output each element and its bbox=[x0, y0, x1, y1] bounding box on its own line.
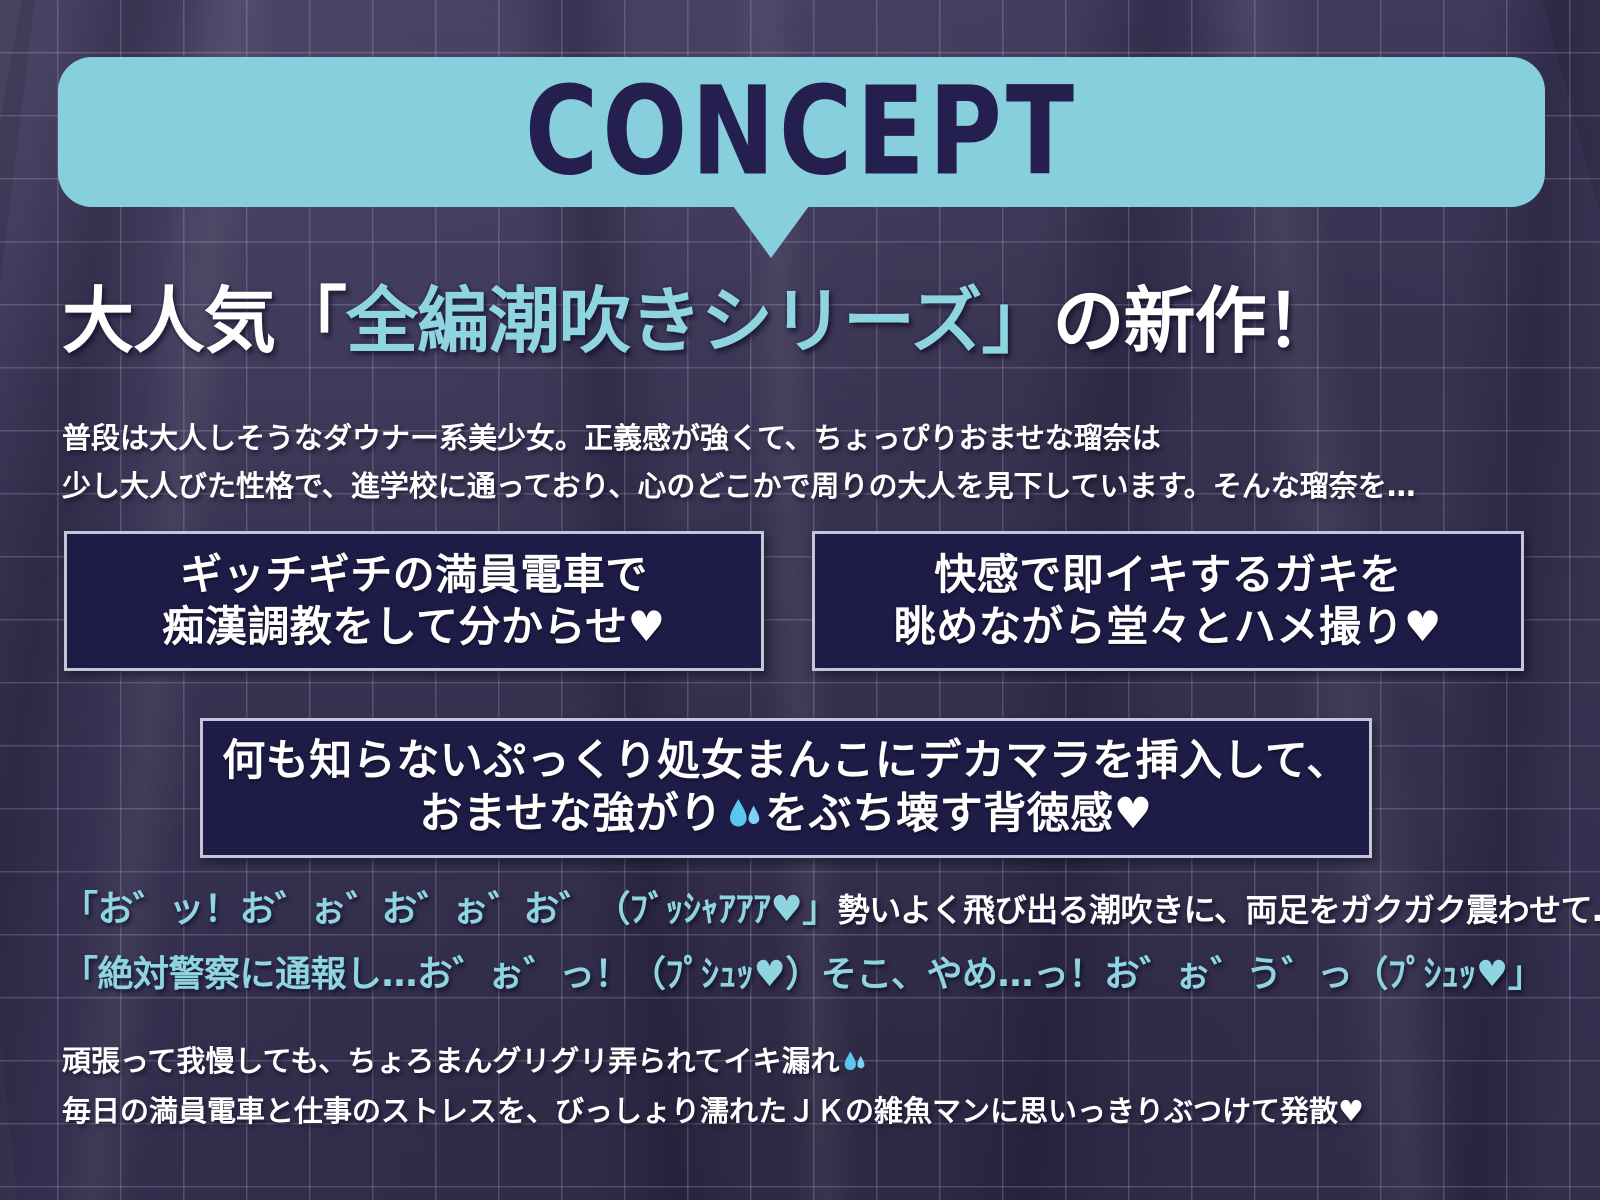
feature-box-line: 快感で即イキするガキを bbox=[934, 549, 1402, 601]
feature-box-line: 何も知らないぷっくり処女まんこにデカマラを挿入して、 bbox=[222, 735, 1350, 788]
feature-box-line: おませな強がりをぶち壊す背徳感♥ bbox=[419, 788, 1152, 841]
feature-box-line: ギッチギチの満員電車で bbox=[180, 549, 648, 601]
headline-part1: 大人気 bbox=[62, 279, 275, 363]
headline: 大人気「全編潮吹きシリーズ」の新作！ bbox=[62, 281, 1542, 362]
headline-bracket-open: 「 bbox=[275, 279, 346, 363]
concept-banner: CONCEPT 大人気「全編潮吹きシリーズ」の新作！ 普段は大人しそうなダウナー… bbox=[0, 0, 1600, 1200]
feature-box-left: ギッチギチの満員電車で 痴漢調教をして分からせ♥ bbox=[64, 531, 764, 671]
sweat-droplets-icon bbox=[840, 1041, 868, 1069]
outro-line: 頑張って我慢しても、ちょろまんグリグリ弄られてイキ漏れ bbox=[62, 1036, 1562, 1086]
sweat-droplets-icon bbox=[723, 794, 764, 835]
outro-line: 毎日の満員電車と仕事のストレスを、びっしょり濡れたＪＫの雑魚マンに思いっきりぶつ… bbox=[62, 1086, 1562, 1136]
headline-bracket-close: 」 bbox=[981, 279, 1052, 363]
bubble-body: CONCEPT bbox=[58, 57, 1545, 207]
feature-box-line: 眺めながら堂々とハメ撮り♥ bbox=[894, 601, 1442, 653]
lead-line: 普段は大人しそうなダウナー系美少女。正義感が強くて、ちょっぴりおませな瑠奈は bbox=[62, 414, 1542, 462]
headline-highlight: 全編潮吹きシリーズ bbox=[346, 279, 981, 363]
headline-part2: の新作！ bbox=[1052, 279, 1336, 363]
quote-cyan-text: 「お゛ッ！お゛ぉ゛お゛ぉ゛お゛（ﾌﾞｯｼｬｱｱｱ♥」 bbox=[62, 889, 838, 930]
feature-box-line-text-a: おませな強がり bbox=[419, 789, 722, 839]
lead-line: 少し大人びた性格で、進学校に通っており、心のどこかで周りの大人を見下しています。… bbox=[62, 462, 1542, 510]
speech-bubble-tail-icon bbox=[733, 206, 809, 258]
quote-cyan-text: 「絶対警察に通報し…お゛ぉ゛っ！（ﾌﾟｼｭｯ♥）そこ、やめ…っ！お゛ぉ゛う゛っ（… bbox=[62, 954, 1543, 995]
feature-box-line-text-b: をぶち壊す背徳感♥ bbox=[765, 789, 1152, 839]
feature-box-line: 痴漢調教をして分からせ♥ bbox=[162, 601, 666, 653]
outro-paragraph: 頑張って我慢しても、ちょろまんグリグリ弄られてイキ漏れ 毎日の満員電車と仕事のス… bbox=[62, 1036, 1562, 1136]
quote-line-2: 「絶対警察に通報し…お゛ぉ゛っ！（ﾌﾟｼｭｯ♥）そこ、やめ…っ！お゛ぉ゛う゛っ（… bbox=[62, 957, 1562, 993]
concept-header-bubble: CONCEPT bbox=[58, 57, 1545, 207]
quote-line-1: 「お゛ッ！お゛ぉ゛お゛ぉ゛お゛（ﾌﾞｯｼｬｱｱｱ♥」勢いよく飛び出る潮吹きに、両… bbox=[62, 892, 1562, 928]
lead-paragraph: 普段は大人しそうなダウナー系美少女。正義感が強くて、ちょっぴりおませな瑠奈は 少… bbox=[62, 414, 1542, 510]
quote-white-text: 勢いよく飛び出る潮吹きに、両足をガクガク震わせて… bbox=[838, 891, 1600, 929]
feature-box-wide: 何も知らないぷっくり処女まんこにデカマラを挿入して、 おませな強がりをぶち壊す背… bbox=[200, 718, 1372, 858]
feature-box-right: 快感で即イキするガキを 眺めながら堂々とハメ撮り♥ bbox=[812, 531, 1524, 671]
outro-line-text: 頑張って我慢しても、ちょろまんグリグリ弄られてイキ漏れ bbox=[62, 1044, 840, 1078]
page-title: CONCEPT bbox=[525, 71, 1078, 193]
